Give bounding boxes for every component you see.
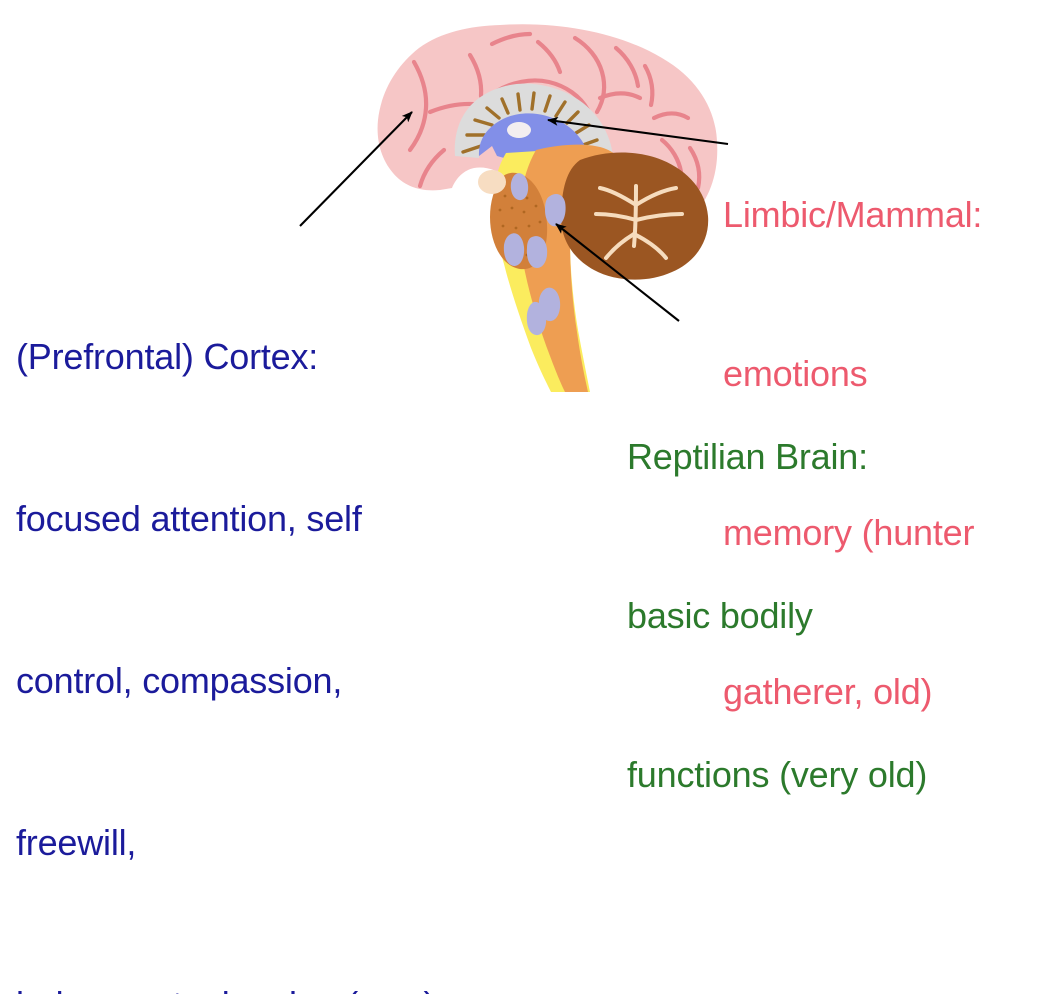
cerebellum-group bbox=[561, 153, 708, 280]
thalamus bbox=[490, 173, 547, 269]
septum-pellucidum bbox=[507, 122, 531, 138]
nuclei-patches bbox=[504, 173, 566, 335]
arrow-to-limbic bbox=[548, 120, 728, 144]
nucleus-patch-bottom bbox=[527, 302, 546, 335]
nucleus-patch-far-left bbox=[511, 173, 528, 200]
pituitary bbox=[478, 170, 506, 194]
nucleus-patch-upper bbox=[545, 194, 566, 226]
nucleus-patch-left bbox=[504, 233, 524, 266]
corpus-callosum-rays bbox=[463, 93, 602, 157]
reptilian-label-line-1: Reptilian Brain: bbox=[627, 430, 927, 483]
cortex-annotation-label: (Prefrontal) Cortex: focused attention, … bbox=[16, 222, 435, 994]
limbic-core-group bbox=[479, 113, 591, 176]
cortex-label-line-4: freewill, bbox=[16, 816, 435, 870]
thalamus-group bbox=[490, 173, 547, 269]
brainstem-sheath bbox=[494, 150, 590, 392]
reptilian-label-line-3: functions (very old) bbox=[627, 748, 927, 801]
diagram-canvas: (Prefrontal) Cortex: focused attention, … bbox=[0, 0, 1056, 497]
corpus-callosum-shape bbox=[479, 113, 591, 176]
corpus-callosum-halo bbox=[455, 84, 613, 168]
corpus-callosum-halo-group bbox=[455, 84, 613, 168]
cerebral-cortex-group bbox=[378, 24, 718, 239]
arrow-to-reptilian bbox=[556, 224, 679, 321]
cerebellum bbox=[561, 153, 708, 280]
reptilian-annotation-label: Reptilian Brain: basic bodily functions … bbox=[627, 324, 927, 907]
arbor-vitae bbox=[596, 186, 682, 258]
cortex-label-line-2: focused attention, self bbox=[16, 492, 435, 546]
nucleus-patch-mid bbox=[527, 236, 547, 268]
limbic-label-line-1: Limbic/Mammal: bbox=[723, 188, 982, 241]
nucleus-patch-lower bbox=[539, 288, 560, 321]
arrow-to-cortex bbox=[300, 112, 412, 226]
cortex-label-line-5: judgement, planning (new) bbox=[16, 978, 435, 994]
brainstem bbox=[520, 145, 628, 392]
cortex-sulci bbox=[410, 34, 699, 234]
thalamus-stipple bbox=[499, 191, 542, 259]
reptilian-label-line-2: basic bodily bbox=[627, 589, 927, 642]
cortex-label-line-1: (Prefrontal) Cortex: bbox=[16, 330, 435, 384]
cortex-label-line-3: control, compassion, bbox=[16, 654, 435, 708]
cerebral-cortex-shape bbox=[378, 24, 718, 239]
